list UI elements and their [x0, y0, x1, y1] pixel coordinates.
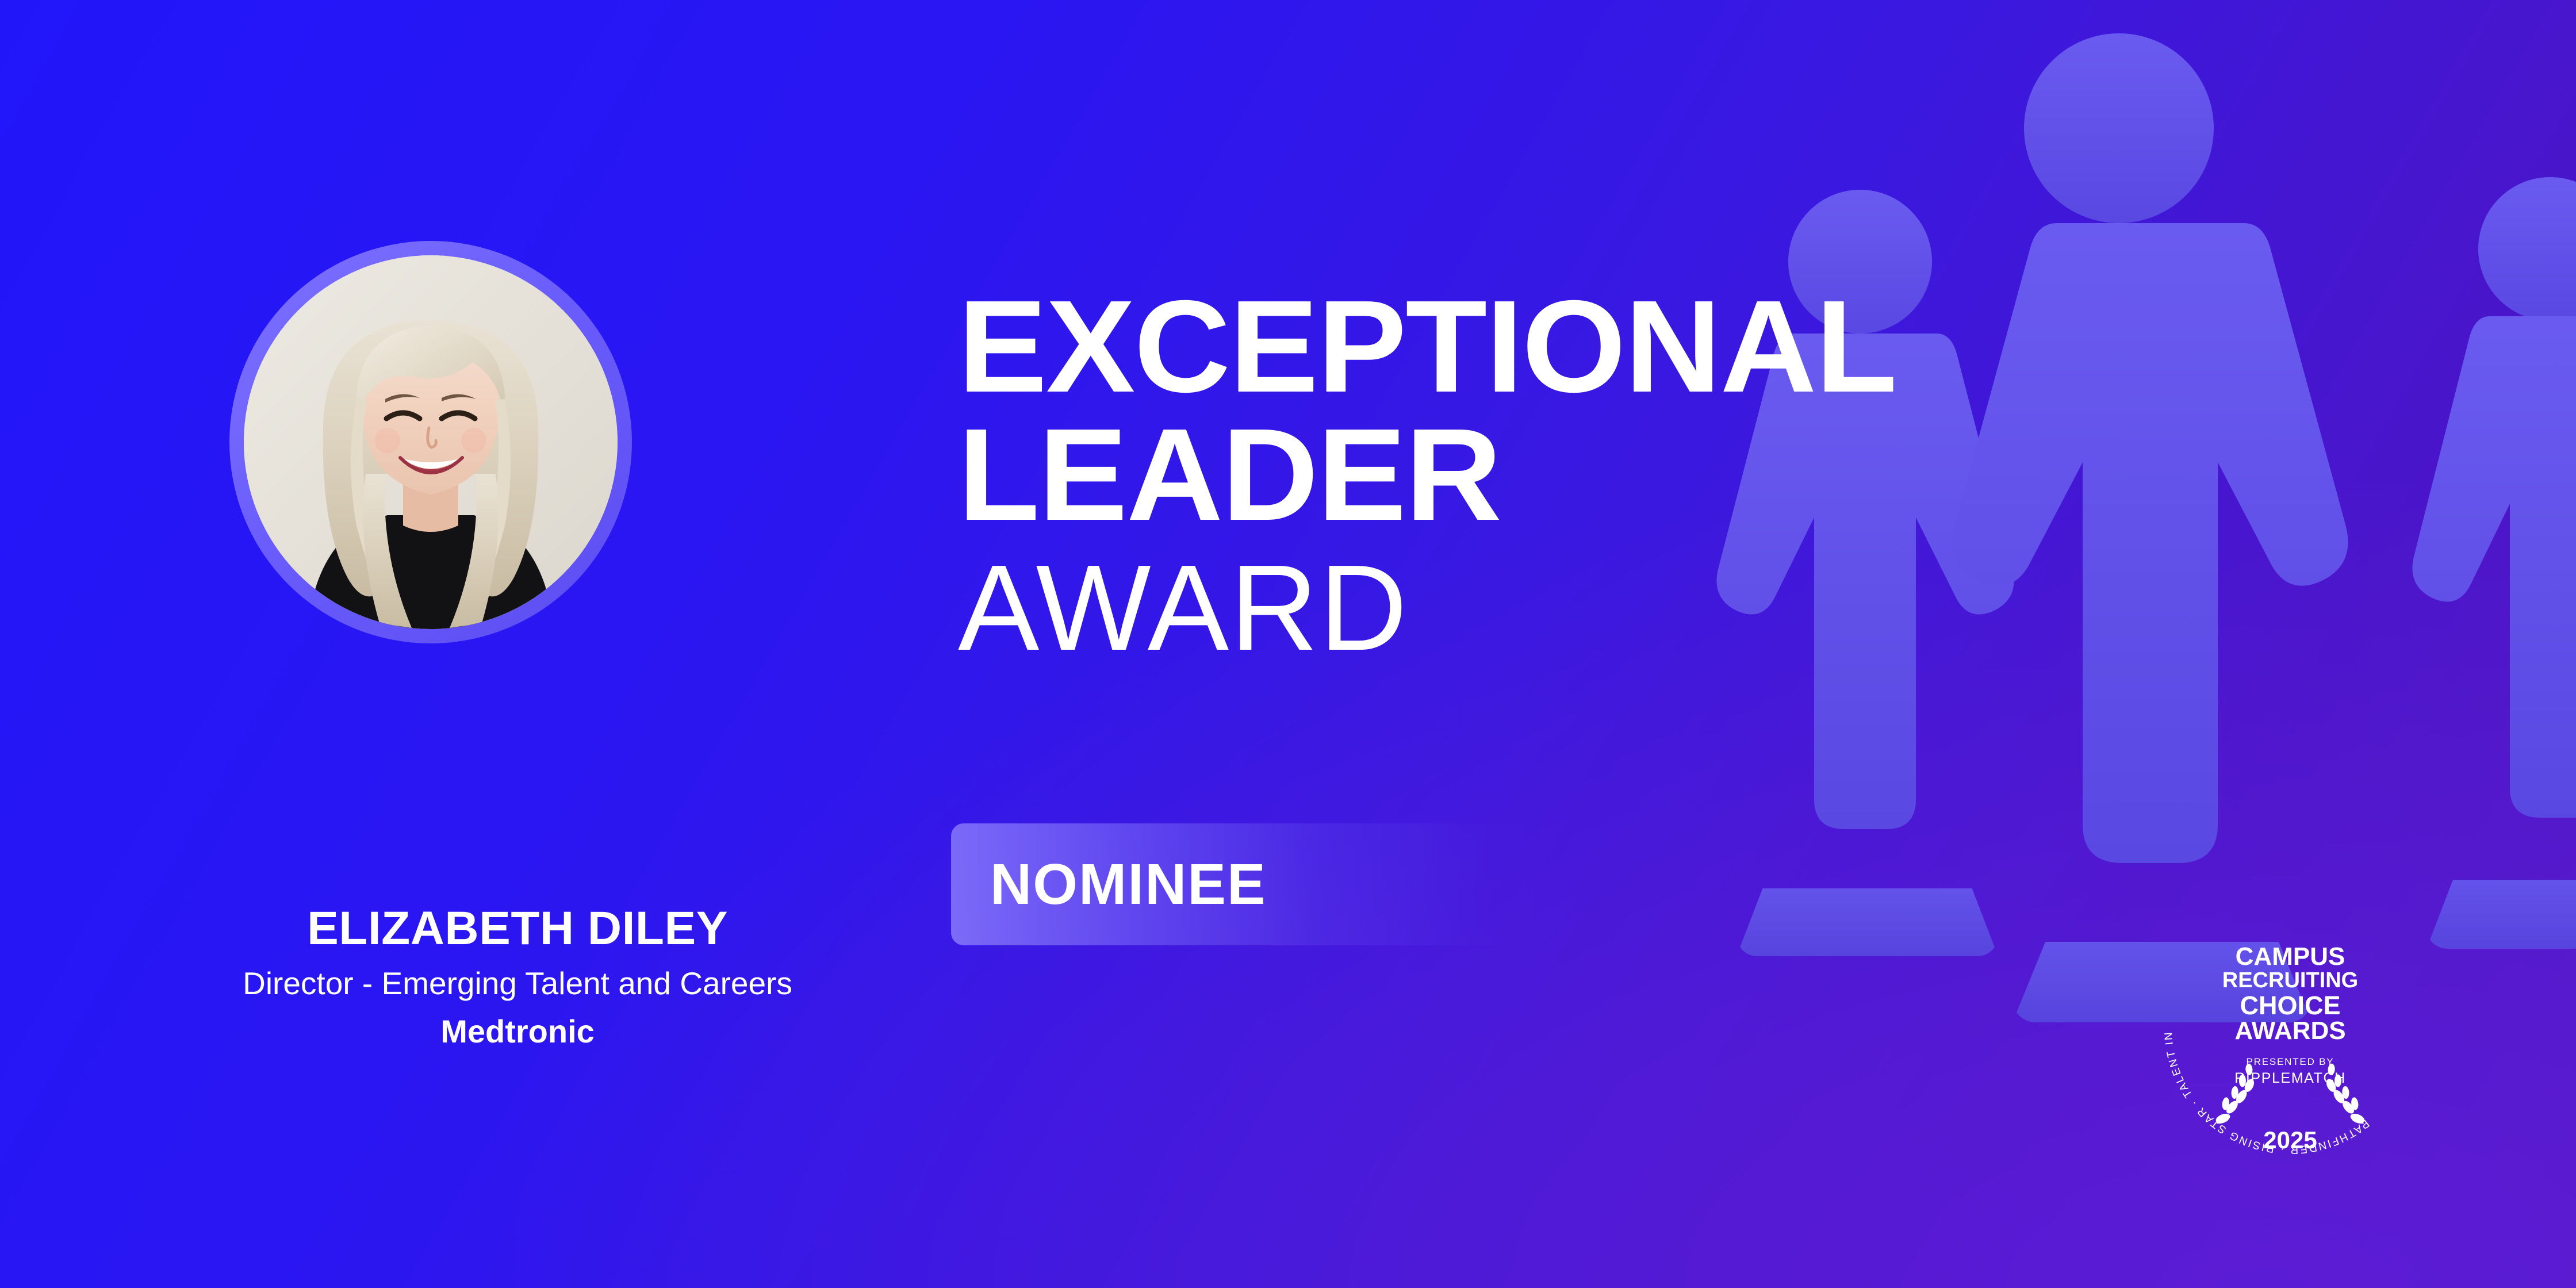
avatar-photo [244, 255, 618, 629]
award-banner: EXCEPTIONAL LEADER AWARD NOMINEE ELIZABE… [0, 0, 2576, 1288]
person-body-icon [1918, 216, 2395, 929]
nominee-role: Director - Emerging Talent and Careers [0, 966, 1035, 1001]
seal-year: 2025 [2155, 1126, 2425, 1154]
status-badge: NOMINEE [951, 823, 1540, 945]
award-title-line3: AWARD [958, 545, 1878, 671]
person-silhouette-center [1918, 33, 2395, 1022]
nominee-info: ELIZABETH DILEY Director - Emerging Tale… [0, 904, 1035, 1049]
person-silhouette-right [2409, 177, 2576, 948]
person-pedestal [2426, 880, 2576, 949]
nominee-name: ELIZABETH DILEY [0, 904, 1035, 953]
person-pedestal [1736, 888, 1998, 956]
person-head-icon [2478, 177, 2576, 321]
laurel-wreath-icon [2200, 1061, 2381, 1125]
award-seal: PATHFINDER · RISING STAR · TALENT INNOVA… [2155, 893, 2425, 1163]
person-body-icon [2409, 310, 2576, 874]
person-head-icon [2024, 33, 2214, 223]
seal-ring: PATHFINDER · RISING STAR · TALENT INNOVA… [2155, 893, 2425, 1163]
award-title-line2: LEADER [958, 411, 1896, 539]
avatar [229, 241, 632, 643]
nominee-headshot-illustration [244, 255, 618, 629]
award-title: EXCEPTIONAL LEADER AWARD [958, 283, 1878, 671]
award-title-line1: EXCEPTIONAL [958, 283, 1896, 411]
seal-ring-text: PATHFINDER · RISING STAR · TALENT INNOVA… [2155, 893, 2371, 1156]
nominee-company: Medtronic [0, 1014, 1035, 1049]
